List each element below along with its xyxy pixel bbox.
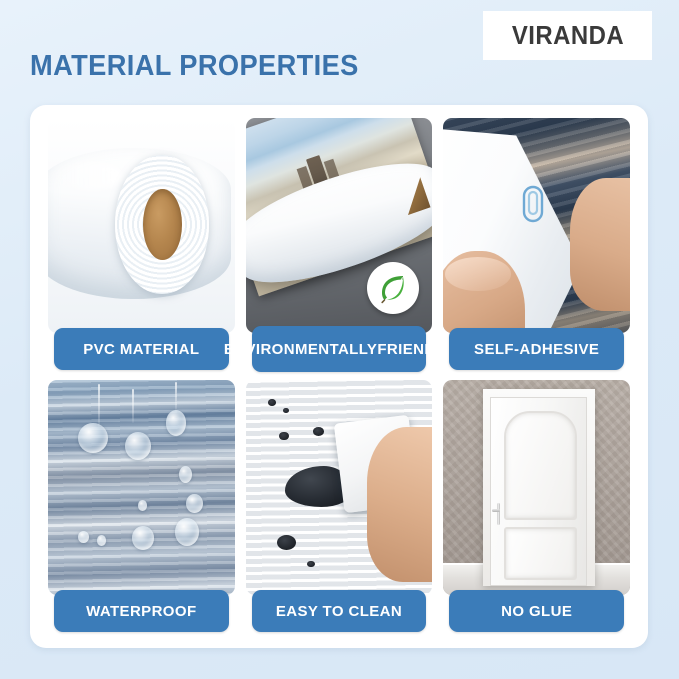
water-droplet (132, 526, 154, 550)
feature-card-easy-to-clean[interactable]: EASY TO CLEAN (246, 380, 433, 632)
door-handle-plate (497, 503, 500, 526)
page-title: MATERIAL PROPERTIES (30, 50, 359, 83)
water-droplet (97, 535, 106, 546)
feature-card-no-glue[interactable]: NO GLUE (443, 380, 630, 632)
easy-to-clean-image (246, 380, 433, 595)
water-droplet (179, 466, 192, 483)
eco-badge (367, 262, 419, 314)
feature-label-pvc-material: PVC MATERIAL (54, 328, 229, 370)
feature-card-environmentally-friendly[interactable]: ENVIRONMENTALLY FRIENDLY (246, 118, 433, 370)
paperclip-icon (518, 183, 548, 225)
stain-spot (279, 432, 288, 441)
waterproof-illustration (48, 380, 235, 595)
feature-grid: PVC MATERIAL (48, 118, 630, 637)
feature-label-environmentally-friendly: ENVIRONMENTALLY FRIENDLY (252, 326, 427, 372)
eco-mural-illustration (246, 118, 433, 333)
stain-spot (283, 408, 289, 413)
infographic-page: VIRANDA MATERIAL PROPERTIES PVC MATERIAL (0, 0, 679, 679)
water-streak (175, 382, 177, 412)
no-glue-illustration (443, 380, 630, 595)
right-hand (570, 178, 630, 311)
feature-label-self-adhesive: SELF-ADHESIVE (449, 328, 624, 370)
feature-label-waterproof: WATERPROOF (54, 590, 229, 632)
roll-highlight (52, 161, 123, 191)
stain-spot (307, 561, 314, 567)
feature-card-self-adhesive[interactable]: SELF-ADHESIVE (443, 118, 630, 370)
water-streak (98, 384, 100, 427)
water-droplet (175, 518, 199, 546)
waterproof-image (48, 380, 235, 595)
feature-panel: PVC MATERIAL (30, 105, 648, 648)
door-handle (492, 503, 504, 526)
easy-to-clean-illustration (246, 380, 433, 595)
door-leaf (490, 397, 586, 587)
water-droplet (186, 494, 203, 513)
water-droplet (125, 432, 151, 460)
door-panel-top (504, 411, 578, 520)
roll-cardboard-core (143, 189, 182, 260)
water-droplet (166, 410, 187, 436)
stain-spot (313, 427, 324, 436)
door-panel-bottom (504, 527, 578, 580)
feature-card-pvc-material[interactable]: PVC MATERIAL (48, 118, 235, 370)
feature-label-line-2: FRIENDLY (377, 341, 454, 358)
feature-label-no-glue: NO GLUE (449, 590, 624, 632)
pvc-roll-image (48, 118, 235, 333)
water-droplet (78, 531, 89, 544)
no-glue-image (443, 380, 630, 595)
water-streak (132, 389, 134, 423)
eco-mural-image (246, 118, 433, 333)
stain-spot (277, 535, 296, 550)
water-droplet (78, 423, 108, 453)
hand-holding-cloth (367, 427, 432, 582)
door-handle-lever (492, 509, 500, 513)
brand-logo: VIRANDA (483, 11, 652, 60)
leaf-icon (376, 271, 410, 305)
self-adhesive-image (443, 118, 630, 333)
self-adhesive-illustration (443, 118, 630, 333)
door-frame (483, 389, 595, 587)
stain-spot (268, 399, 275, 405)
brand-logo-text: VIRANDA (511, 20, 623, 51)
feature-card-waterproof[interactable]: WATERPROOF (48, 380, 235, 632)
feature-label-line-1: ENVIRONMENTALLY (224, 341, 378, 358)
water-droplet (138, 500, 147, 511)
feature-label-easy-to-clean: EASY TO CLEAN (252, 590, 427, 632)
pvc-roll-illustration (48, 118, 235, 333)
